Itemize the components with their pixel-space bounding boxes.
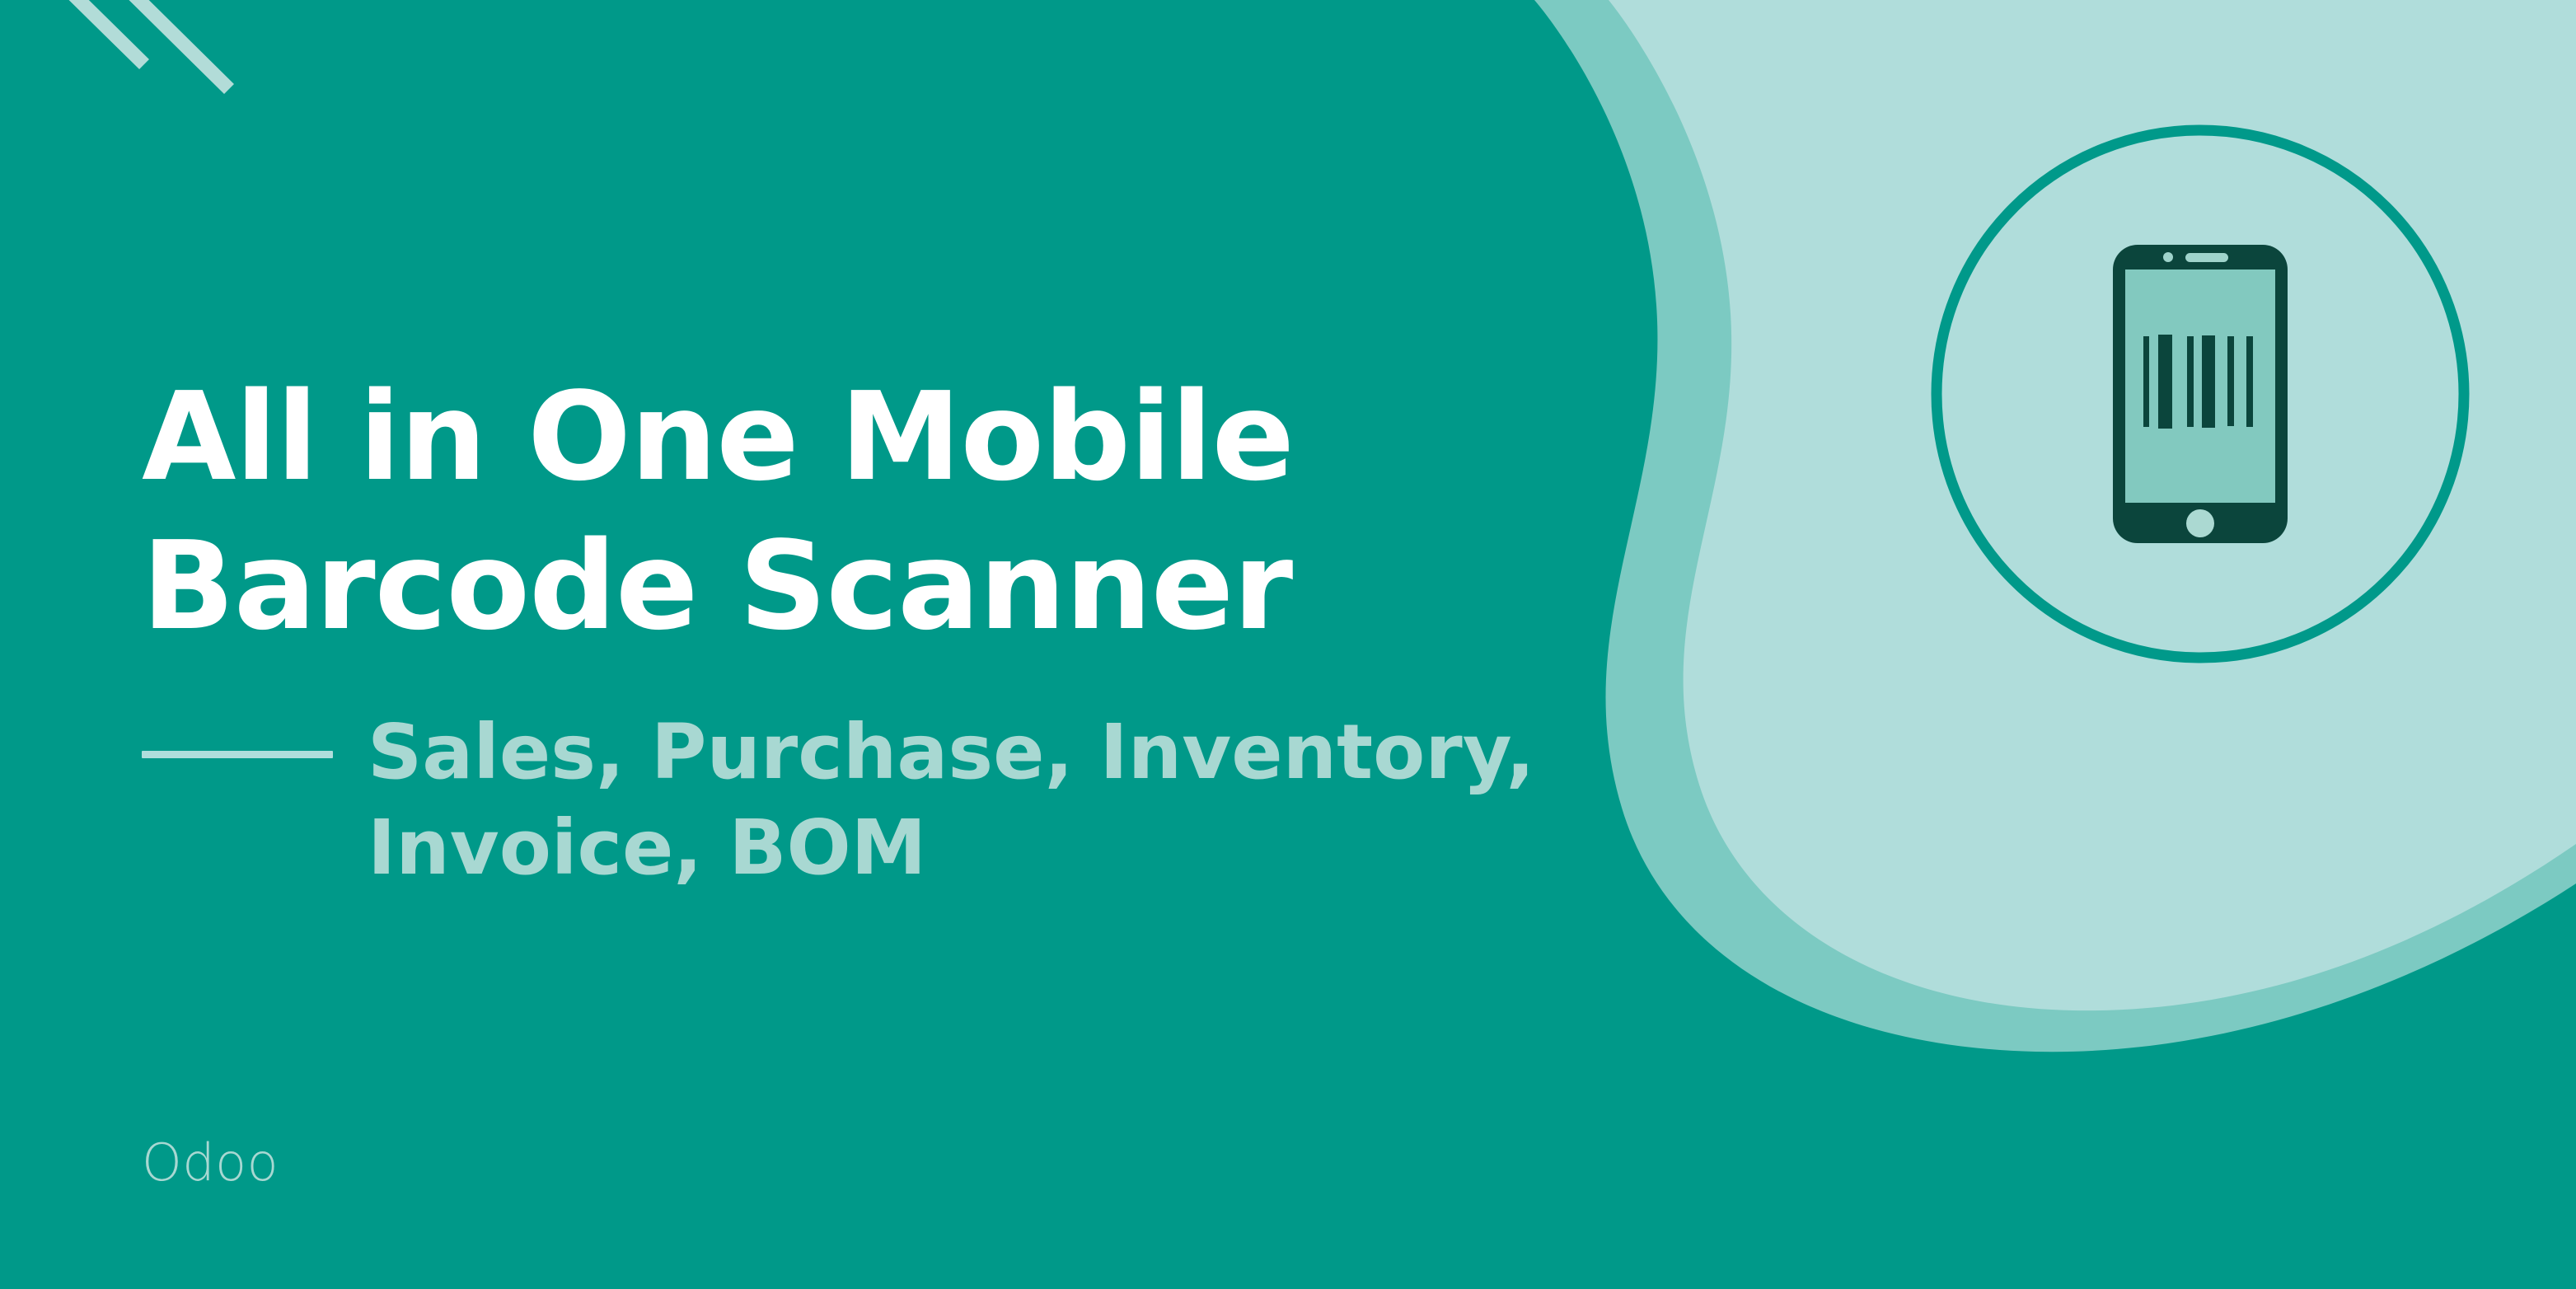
brand-label: Odoo (142, 1132, 279, 1193)
stripe-1 (45, 0, 144, 64)
subtitle-rule (142, 751, 333, 758)
barcode-bar (2187, 336, 2194, 427)
subtitle-row: Sales, Purchase, Inventory, Invoice, BOM (142, 705, 1707, 896)
mobile-barcode-scanner-icon (1923, 117, 2477, 671)
slide-canvas: All in One Mobile Barcode Scanner Sales,… (0, 0, 2576, 1289)
smartphone-icon (2113, 245, 2288, 543)
barcode-bar (2158, 335, 2172, 429)
barcode-bar (2202, 335, 2215, 428)
page-title: All in One Mobile Barcode Scanner (142, 363, 1724, 660)
phone-camera-icon (2163, 252, 2173, 262)
phone-speaker-icon (2185, 253, 2228, 262)
text-content: All in One Mobile Barcode Scanner Sales,… (142, 0, 1757, 1289)
barcode-bar (2227, 336, 2234, 426)
page-subtitle: Sales, Purchase, Inventory, Invoice, BOM (368, 705, 1707, 896)
barcode-bar (2246, 336, 2253, 427)
barcode-bar (2143, 336, 2149, 427)
phone-home-button (2186, 509, 2214, 537)
